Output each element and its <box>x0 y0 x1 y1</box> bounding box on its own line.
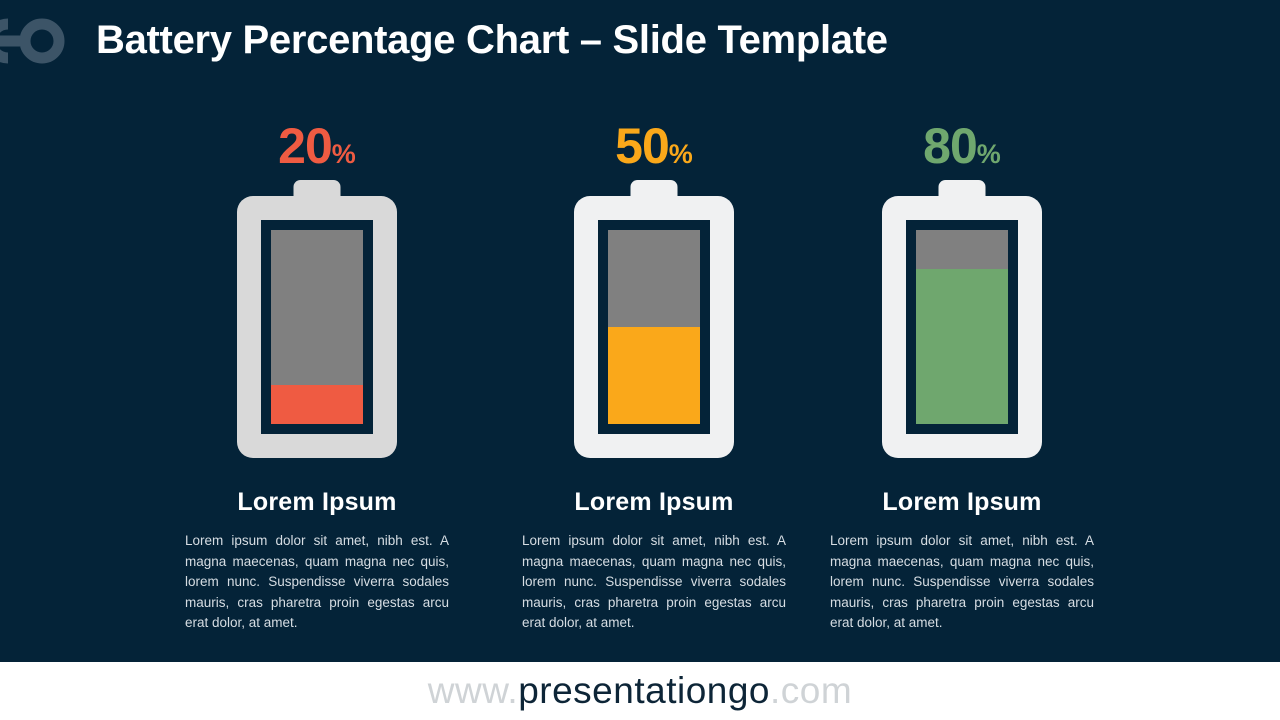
battery-column-2: 50% Lorem Ipsum Lorem ipsum dolor sit am… <box>494 112 814 634</box>
percentage-label-3: 80% <box>802 112 1122 180</box>
column-heading-1: Lorem Ipsum <box>157 488 477 517</box>
battery-track-2 <box>608 230 700 424</box>
percentage-label-2: 50% <box>494 112 814 180</box>
footer-bar: www.presentationgo.com <box>0 662 1280 720</box>
percentage-value-2: 50 <box>615 118 669 174</box>
footer-prefix: www. <box>428 670 518 712</box>
column-body-2: Lorem ipsum dolor sit amet, nibh est. A … <box>522 531 786 634</box>
footer-website-text: www.presentationgo.com <box>0 662 1280 720</box>
percentage-label-1: 20% <box>157 112 477 180</box>
percent-symbol-2: % <box>669 139 693 169</box>
battery-graphic-3 <box>882 180 1042 458</box>
slide-canvas: Battery Percentage Chart – Slide Templat… <box>0 0 1280 720</box>
column-body-1: Lorem ipsum dolor sit amet, nibh est. A … <box>185 531 449 634</box>
column-heading-3: Lorem Ipsum <box>802 488 1122 517</box>
footer-brand: presentationgo <box>518 670 770 712</box>
battery-fill-3 <box>916 269 1008 424</box>
battery-track-3 <box>916 230 1008 424</box>
battery-graphic-1 <box>237 180 397 458</box>
battery-column-1: 20% Lorem Ipsum Lorem ipsum dolor sit am… <box>157 112 477 634</box>
presentationgo-logo-icon <box>0 4 76 78</box>
battery-graphic-2 <box>574 180 734 458</box>
percentage-value-1: 20 <box>278 118 332 174</box>
column-heading-2: Lorem Ipsum <box>494 488 814 517</box>
percent-symbol-1: % <box>332 139 356 169</box>
battery-fill-2 <box>608 327 700 424</box>
battery-fill-1 <box>271 385 363 424</box>
percent-symbol-3: % <box>977 139 1001 169</box>
footer-suffix: .com <box>770 670 852 712</box>
percentage-value-3: 80 <box>923 118 977 174</box>
column-body-3: Lorem ipsum dolor sit amet, nibh est. A … <box>830 531 1094 634</box>
page-title: Battery Percentage Chart – Slide Templat… <box>96 18 888 63</box>
battery-track-1 <box>271 230 363 424</box>
battery-column-3: 80% Lorem Ipsum Lorem ipsum dolor sit am… <box>802 112 1122 634</box>
battery-columns: 20% Lorem Ipsum Lorem ipsum dolor sit am… <box>0 112 1280 660</box>
